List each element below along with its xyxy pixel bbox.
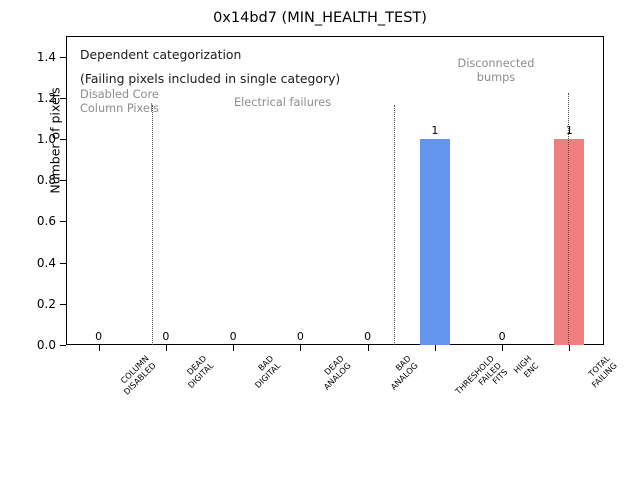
annotation-disconnected-bumps: Disconnected bumps xyxy=(434,57,558,84)
y-tick-label-5: 1.0 xyxy=(14,133,56,145)
y-tick-label-3: 0.6 xyxy=(14,215,56,227)
y-tick-mark-0 xyxy=(60,345,66,346)
y-tick-label-7: 1.4 xyxy=(14,51,56,63)
page-title: 0x14bd7 (MIN_HEALTH_TEST) xyxy=(0,10,640,26)
x-tick-label-bad-analog: BADANALOG xyxy=(382,354,420,392)
y-tick-label-1: 0.2 xyxy=(14,298,56,310)
x-tick-mark-1 xyxy=(166,345,167,351)
annotation-electrical-failures: Electrical failures xyxy=(234,96,331,110)
annotation-failing-pixels-note: (Failing pixels included in single categ… xyxy=(80,71,340,88)
x-tick-label-column-disabled: COLUMNDISABLED xyxy=(115,354,158,397)
divider-line-2 xyxy=(394,105,395,345)
x-tick-mark-3 xyxy=(300,345,301,351)
x-tick-mark-7 xyxy=(569,345,570,351)
x-tick-label-dead-analog: DEADANALOG xyxy=(315,354,353,392)
x-tick-mark-4 xyxy=(368,345,369,351)
divider-line-3 xyxy=(568,93,569,345)
y-tick-label-6: 1.2 xyxy=(14,92,56,104)
annotation-disabled-core-column-pixels: Disabled Core Column Pixels xyxy=(80,88,159,115)
y-tick-label-0: 0.0 xyxy=(14,339,56,351)
x-tick-label-threshold-failed-fits: THRESHOLDFAILEDFITS xyxy=(454,354,510,410)
y-tick-label-4: 0.8 xyxy=(14,174,56,186)
x-tick-label-high-enc: HIGHENC xyxy=(512,354,541,383)
x-tick-label-dead-digital: DEADDIGITAL xyxy=(179,354,215,390)
divider-line-1 xyxy=(152,105,153,345)
chart-figure: 0x14bd7 (MIN_HEALTH_TEST) Number of pixe… xyxy=(0,0,640,480)
x-tick-mark-2 xyxy=(233,345,234,351)
x-tick-mark-0 xyxy=(99,345,100,351)
annotation-dependent-categorization: Dependent categorization xyxy=(80,47,241,64)
y-tick-label-2: 0.4 xyxy=(14,257,56,269)
x-tick-label-bad-digital: BADDIGITAL xyxy=(246,354,282,390)
x-tick-label-total-failing: TOTALFAILING xyxy=(583,354,619,390)
x-tick-mark-5 xyxy=(435,345,436,351)
x-tick-mark-6 xyxy=(502,345,503,351)
